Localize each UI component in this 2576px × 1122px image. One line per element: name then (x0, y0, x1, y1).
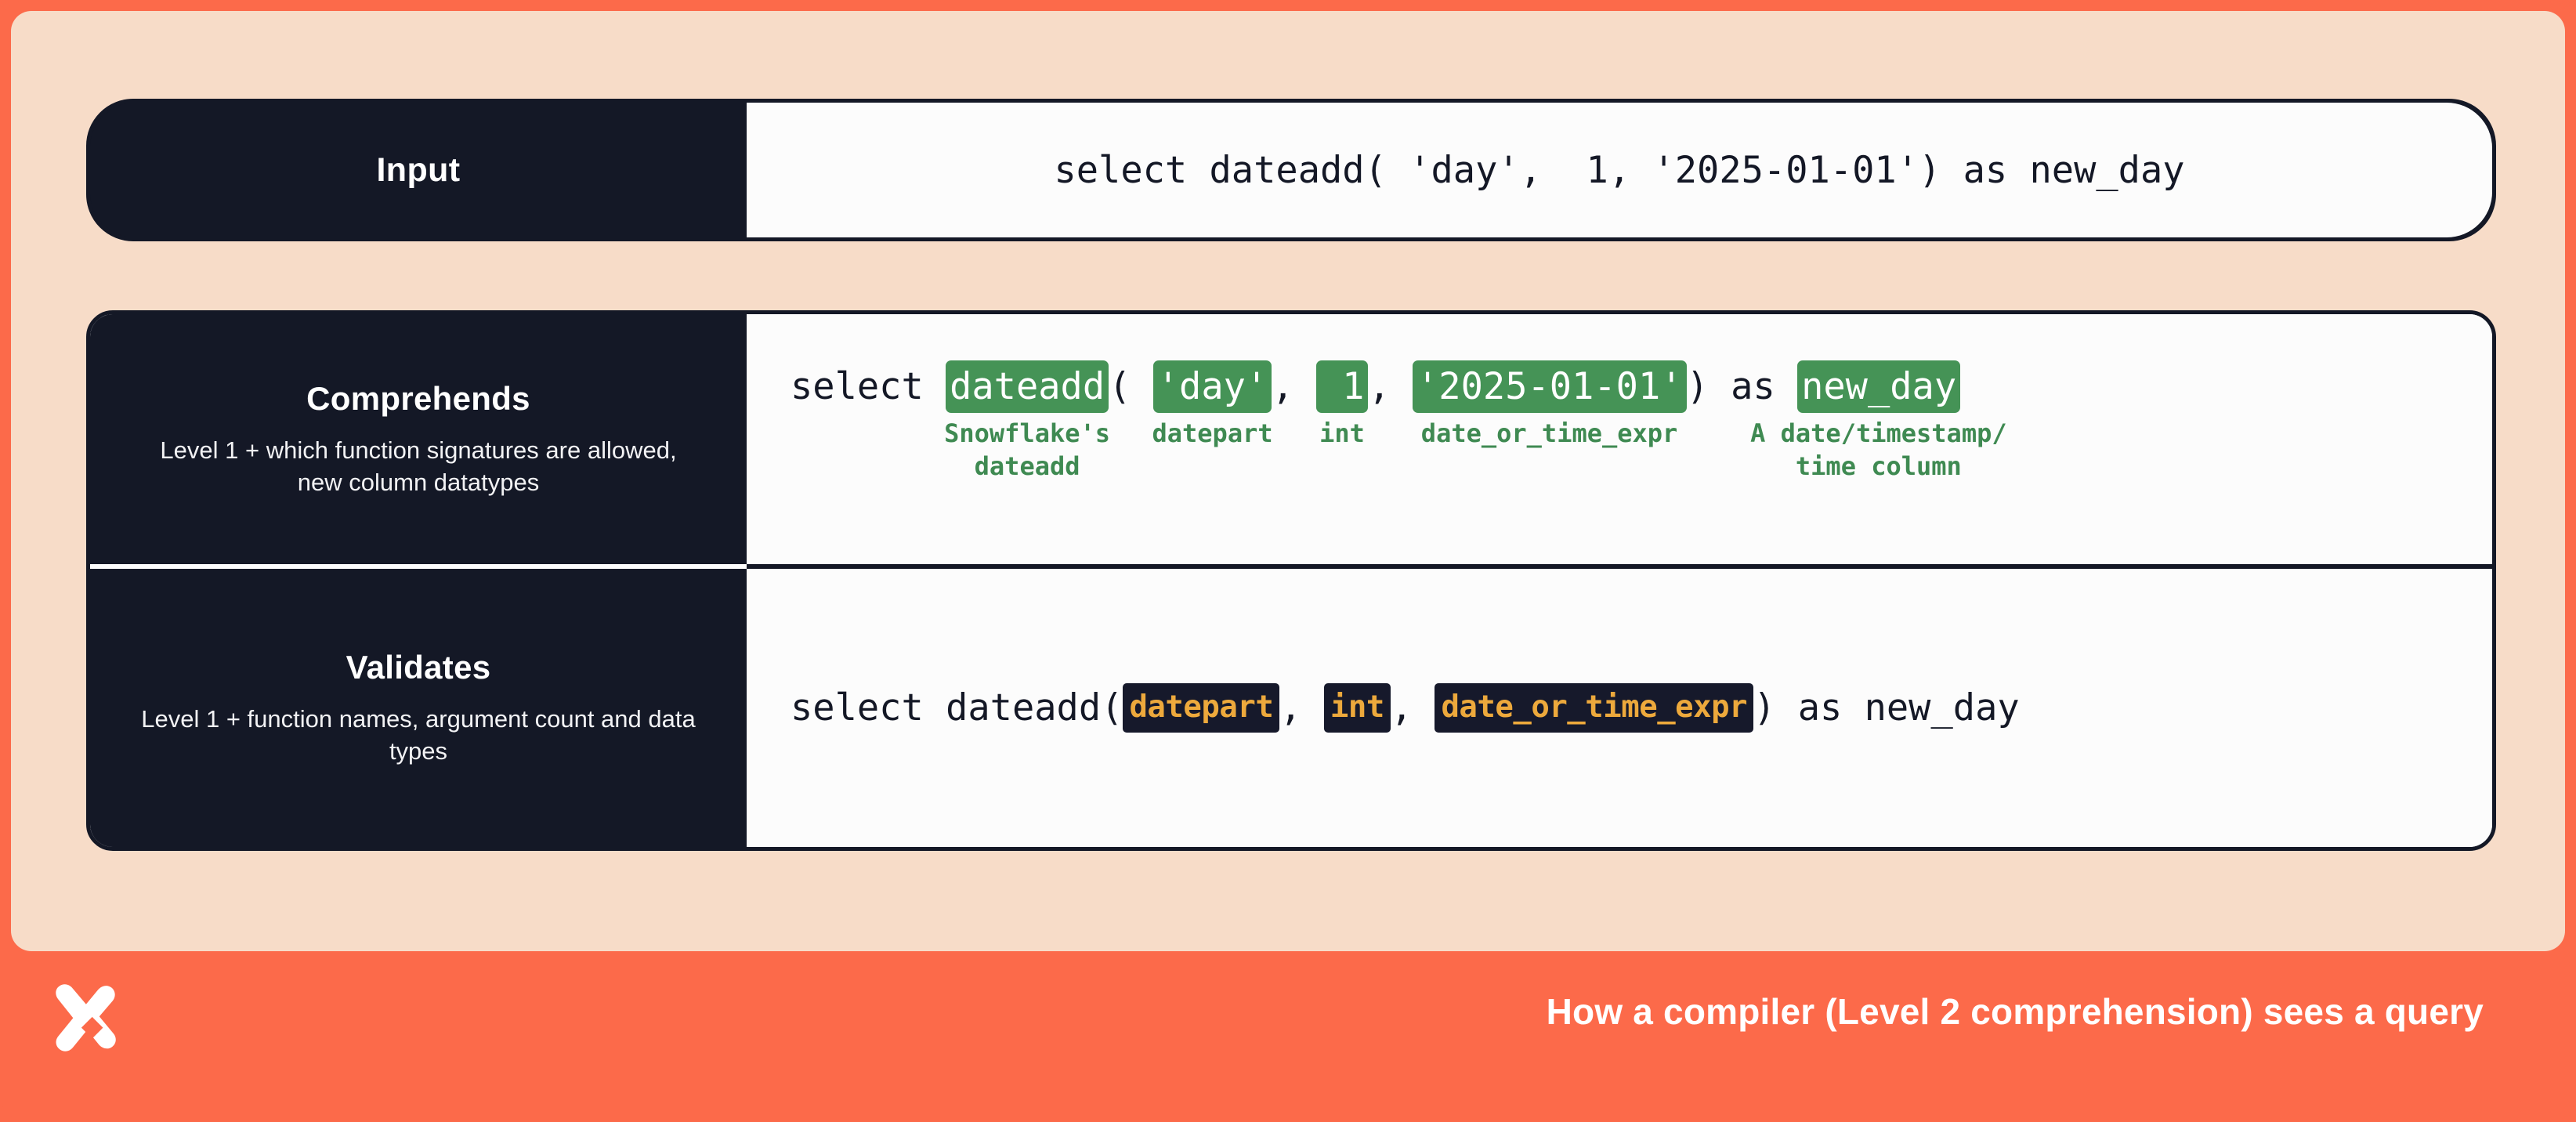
validates-token-1: datepart (1123, 683, 1279, 733)
levels-block: Comprehends Level 1 + which function sig… (86, 310, 2496, 851)
comprehends-row: Comprehends Level 1 + which function sig… (90, 314, 2492, 564)
validates-token-6: ) as new_day (1753, 686, 2020, 729)
comprehends-token-7: '2025-01-01' (1413, 360, 1687, 413)
comprehends-token-1: dateadd (946, 360, 1109, 413)
comprehends-subtitle: Level 1 + which function signatures are … (136, 435, 700, 498)
comprehends-title: Comprehends (306, 380, 530, 418)
footer-caption: How a compiler (Level 2 comprehension) s… (1547, 990, 2484, 1033)
comprehends-annotation-1: datepart (1152, 418, 1272, 451)
x-star-logo (41, 976, 143, 1078)
comprehends-token-9: new_day (1797, 360, 1960, 413)
content-panel: Input select dateadd( 'day', 1, '2025-01… (11, 11, 2565, 951)
comprehends-token-2: ( (1109, 365, 1153, 408)
comprehends-annotation-3: date_or_time_expr (1421, 418, 1678, 451)
comprehends-token-5: 1 (1316, 360, 1369, 413)
validates-row: Validates Level 1 + function names, argu… (90, 569, 2492, 847)
validates-code-area: select dateadd(datepart, int, date_or_ti… (747, 569, 2492, 847)
validates-code-line: select dateadd(datepart, int, date_or_ti… (791, 683, 2492, 733)
comprehends-annotation-2: int (1319, 418, 1365, 451)
validates-label: Validates Level 1 + function names, argu… (90, 569, 747, 847)
validates-token-3: int (1324, 683, 1391, 733)
comprehends-token-8: ) as (1687, 365, 1797, 408)
validates-subtitle: Level 1 + function names, argument count… (136, 704, 700, 767)
input-row-code: select dateadd( 'day', 1, '2025-01-01') … (747, 103, 2492, 237)
validates-title: Validates (346, 649, 491, 686)
comprehends-code-line: select dateadd( 'day', 1, '2025-01-01') … (791, 360, 2492, 413)
footer-bar: How a compiler (Level 2 comprehension) s… (0, 951, 2576, 1122)
comprehends-token-4: , (1272, 365, 1316, 408)
validates-token-4: , (1391, 686, 1435, 729)
comprehends-annotation-4: A date/timestamp/ time column (1750, 418, 2007, 483)
poster-root: Input select dateadd( 'day', 1, '2025-01… (0, 0, 2576, 1122)
validates-token-2: , (1279, 686, 1324, 729)
validates-token-5: date_or_time_expr (1435, 683, 1753, 733)
comprehends-code-area: select dateadd( 'day', 1, '2025-01-01') … (747, 314, 2492, 564)
input-row-label: Input (90, 103, 747, 237)
comprehends-annotation-0: Snowflake's dateadd (944, 418, 1110, 483)
validates-token-0: select dateadd( (791, 686, 1123, 729)
comprehends-token-0: select (791, 365, 946, 408)
comprehends-label: Comprehends Level 1 + which function sig… (90, 314, 747, 564)
comprehends-token-6: , (1368, 365, 1413, 408)
input-row: Input select dateadd( 'day', 1, '2025-01… (86, 99, 2496, 241)
comprehends-token-3: 'day' (1153, 360, 1272, 413)
comprehends-annotations: Snowflake's dateadddatepartintdate_or_ti… (791, 418, 2492, 518)
